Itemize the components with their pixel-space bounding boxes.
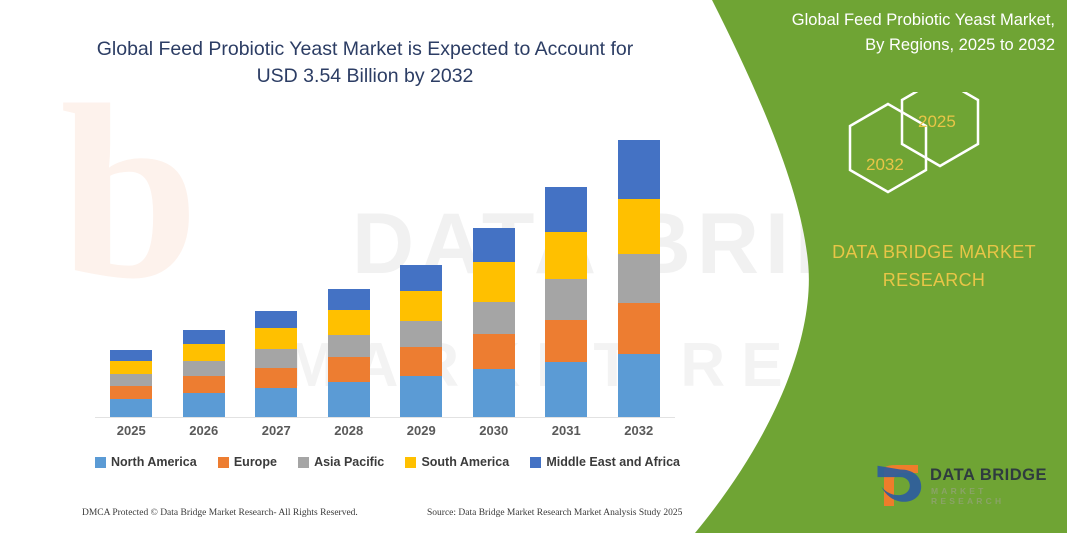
chart-title: Global Feed Probiotic Yeast Market is Ex… [60,36,670,90]
bar-segment[interactable] [110,374,152,386]
right-panel-title-line-1: Global Feed Probiotic Yeast Market, [735,8,1055,33]
bar-column[interactable] [328,289,370,418]
legend-label: Asia Pacific [314,455,384,469]
bar-segment[interactable] [183,330,225,344]
logo-tagline: MARKET RESEARCH [931,486,1062,506]
right-panel-title-line-2: By Regions, 2025 to 2032 [735,33,1055,58]
logo-name: DATA BRIDGE [930,466,1047,485]
chart-panel: Global Feed Probiotic Yeast Market is Ex… [0,0,730,533]
x-axis-label: 2028 [319,423,379,438]
brand-name-line-1: DATA BRIDGE MARKET [800,238,1067,266]
legend-item[interactable]: Asia Pacific [298,455,384,469]
legend-swatch-icon [530,457,541,468]
bar-segment[interactable] [545,232,587,279]
bar-chart-plot-area [95,110,675,418]
x-axis-label: 2025 [101,423,161,438]
bar-segment[interactable] [110,361,152,374]
brand-name-line-2: RESEARCH [800,266,1067,294]
right-panel-title: Global Feed Probiotic Yeast Market, By R… [735,8,1055,58]
bar-column[interactable] [110,350,152,418]
bar-segment[interactable] [255,311,297,328]
bar-segment[interactable] [110,399,152,418]
bar-segment[interactable] [183,344,225,361]
bar-segment[interactable] [328,357,370,382]
bar-segment[interactable] [255,388,297,418]
data-bridge-logo: DATA BRIDGE MARKET RESEARCH [872,462,1062,510]
bar-column[interactable] [255,311,297,418]
bar-segment[interactable] [545,362,587,418]
bar-segment[interactable] [110,386,152,399]
bar-column[interactable] [183,330,225,418]
bar-segment[interactable] [400,265,442,290]
bar-segment[interactable] [473,228,515,262]
hexagon-outlines [820,92,1000,212]
bar-segment[interactable] [255,349,297,368]
bar-segment[interactable] [400,347,442,376]
legend-item[interactable]: Europe [218,455,277,469]
legend-swatch-icon [218,457,229,468]
chart-title-line-1: Global Feed Probiotic Yeast Market is Ex… [60,36,670,63]
x-axis-label: 2031 [536,423,596,438]
x-axis-line [95,417,675,418]
legend-label: South America [421,455,509,469]
bar-segment[interactable] [255,368,297,388]
x-axis-label: 2026 [174,423,234,438]
bar-segment[interactable] [183,393,225,418]
legend-swatch-icon [95,457,106,468]
legend-label: North America [111,455,197,469]
legend-item[interactable]: North America [95,455,197,469]
bar-segment[interactable] [473,302,515,334]
bar-segment[interactable] [183,361,225,376]
chart-title-line-2: USD 3.54 Billion by 2032 [60,63,670,90]
brand-name: DATA BRIDGE MARKET RESEARCH [800,238,1067,294]
legend-swatch-icon [405,457,416,468]
x-axis-labels: 20252026202720282029203020312032 [95,423,675,445]
bar-segment[interactable] [328,335,370,357]
bar-segment[interactable] [110,350,152,361]
hexagon-2032-shape [850,104,926,192]
hexagon-label-2025: 2025 [918,112,956,132]
bar-segment[interactable] [473,262,515,302]
bar-segment[interactable] [328,310,370,335]
chart-legend: North AmericaEuropeAsia PacificSouth Ame… [95,455,680,469]
bar-segment[interactable] [400,321,442,347]
bar-segment[interactable] [400,291,442,321]
x-axis-label: 2027 [246,423,306,438]
bar-segment[interactable] [328,289,370,309]
hexagon-group: 2032 2025 [820,92,1000,212]
bar-column[interactable] [400,265,442,418]
x-axis-label: 2029 [391,423,451,438]
bar-segment[interactable] [183,376,225,393]
x-axis-label: 2030 [464,423,524,438]
bar-segment[interactable] [473,334,515,369]
bar-column[interactable] [545,187,587,418]
bar-segment[interactable] [473,369,515,418]
logo-mark-icon [872,462,928,508]
bar-segment[interactable] [328,382,370,418]
bar-segment[interactable] [255,328,297,349]
bar-column[interactable] [473,228,515,418]
bar-segment[interactable] [545,187,587,233]
bar-segment[interactable] [400,376,442,418]
bar-segment[interactable] [545,279,587,320]
bar-segment[interactable] [545,320,587,362]
legend-item[interactable]: South America [405,455,509,469]
footer-copyright: DMCA Protected © Data Bridge Market Rese… [82,508,358,518]
footer: DMCA Protected © Data Bridge Market Rese… [0,508,700,528]
hexagon-label-2032: 2032 [866,155,904,175]
legend-label: Europe [234,455,277,469]
legend-swatch-icon [298,457,309,468]
